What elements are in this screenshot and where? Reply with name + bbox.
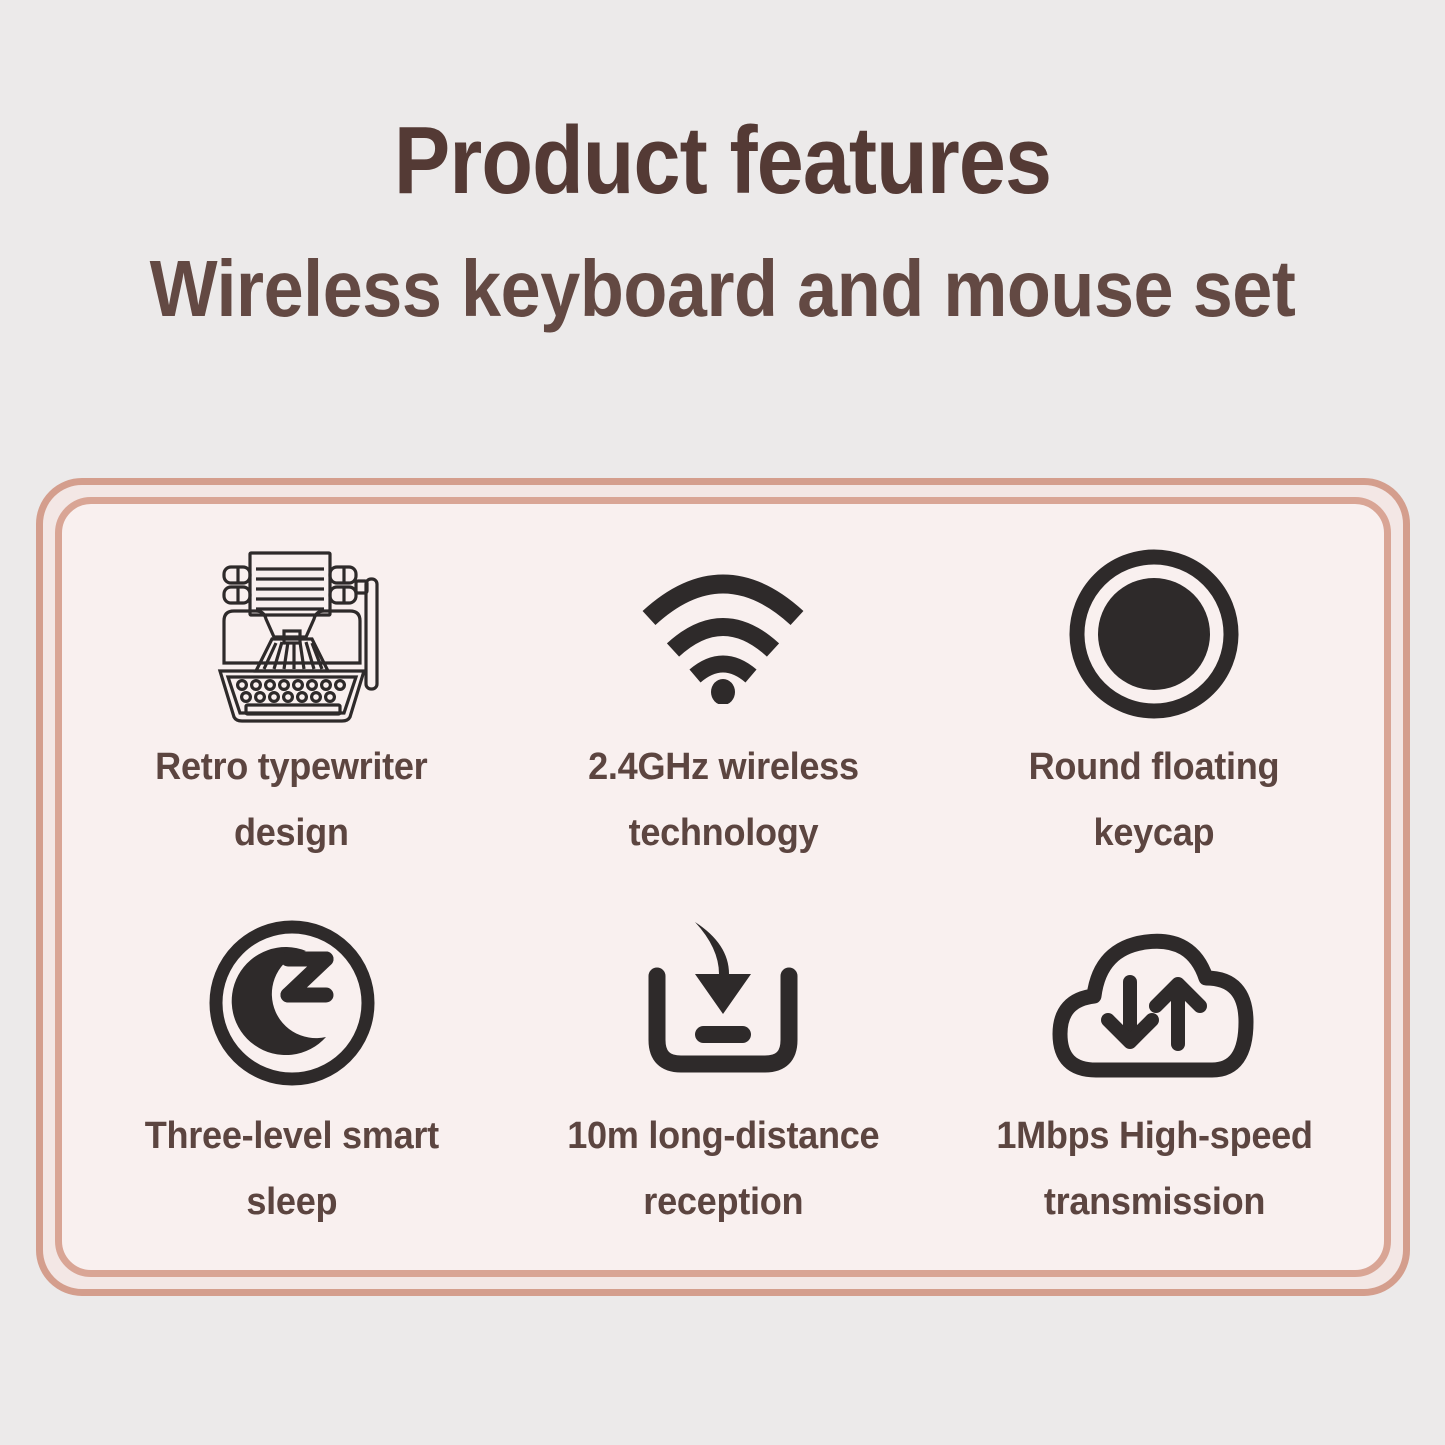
typewriter-icon	[194, 539, 390, 729]
feature-item-sleep: Three-level smart sleep	[76, 900, 507, 1235]
feature-item-wireless: 2.4GHz wireless technology	[507, 531, 938, 866]
caption-line-2: reception	[567, 1170, 879, 1235]
feature-caption-sleep: Three-level smart sleep	[145, 1104, 439, 1235]
cloud-transfer-icon	[1046, 908, 1262, 1098]
feature-item-transmission: 1Mbps High-speed transmission	[939, 900, 1370, 1235]
feature-caption-typewriter: Retro typewriter design	[156, 735, 428, 866]
round-keycap-icon	[1066, 539, 1242, 729]
feature-item-reception: 10m long-distance reception	[507, 900, 938, 1235]
caption-line-1: Three-level smart	[145, 1104, 439, 1169]
download-tray-icon	[633, 908, 813, 1098]
feature-item-typewriter: Retro typewriter design	[76, 531, 507, 866]
infographic-page: Product features Wireless keyboard and m…	[0, 0, 1445, 1445]
caption-line-2: transmission	[996, 1170, 1312, 1235]
caption-line-1: 1Mbps High-speed	[996, 1104, 1312, 1169]
feature-caption-transmission: 1Mbps High-speed transmission	[996, 1104, 1312, 1235]
feature-caption-keycap: Round floating keycap	[1029, 735, 1280, 866]
wifi-icon	[633, 539, 813, 729]
features-grid: Retro typewriter design	[76, 514, 1370, 1252]
caption-line-1: 2.4GHz wireless	[588, 735, 859, 800]
caption-line-2: design	[156, 801, 428, 866]
page-subtitle: Wireless keyboard and mouse set	[72, 248, 1373, 330]
sleep-moon-icon	[204, 908, 380, 1098]
caption-line-1: 10m long-distance	[567, 1104, 879, 1169]
caption-line-2: keycap	[1029, 801, 1280, 866]
feature-caption-reception: 10m long-distance reception	[567, 1104, 879, 1235]
header: Product features Wireless keyboard and m…	[0, 0, 1445, 330]
feature-item-keycap: Round floating keycap	[939, 531, 1370, 866]
caption-line-2: sleep	[145, 1170, 439, 1235]
features-card: Retro typewriter design	[36, 478, 1410, 1296]
features-card-inner: Retro typewriter design	[55, 497, 1391, 1277]
caption-line-1: Round floating	[1029, 735, 1280, 800]
page-title: Product features	[87, 112, 1359, 210]
feature-caption-wireless: 2.4GHz wireless technology	[588, 735, 859, 866]
caption-line-2: technology	[588, 801, 859, 866]
caption-line-1: Retro typewriter	[156, 735, 428, 800]
